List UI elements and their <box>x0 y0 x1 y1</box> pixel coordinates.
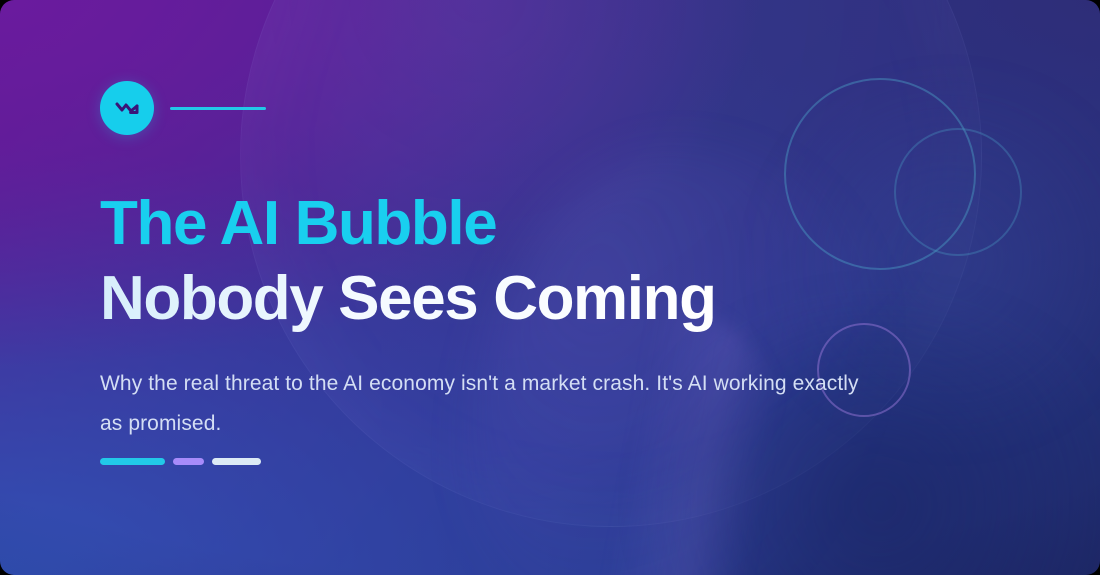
subtitle: Why the real threat to the AI economy is… <box>100 364 860 444</box>
badge-rule <box>170 107 266 110</box>
trending-down-icon <box>100 81 154 135</box>
ai-bubble-hero-card: The AI Bubble Nobody Sees Coming Why the… <box>0 0 1100 575</box>
brand-badge-row <box>100 81 266 135</box>
accent-bar-cyan <box>100 458 165 465</box>
headline-line-1: The AI Bubble <box>100 186 716 261</box>
headline-line-2: Nobody Sees Coming <box>100 261 716 336</box>
accent-bar-group <box>100 458 261 465</box>
accent-bar-light <box>212 458 261 465</box>
decorative-circle-small <box>894 128 1022 256</box>
page-title: The AI Bubble Nobody Sees Coming <box>100 186 716 336</box>
accent-bar-purple <box>173 458 204 465</box>
